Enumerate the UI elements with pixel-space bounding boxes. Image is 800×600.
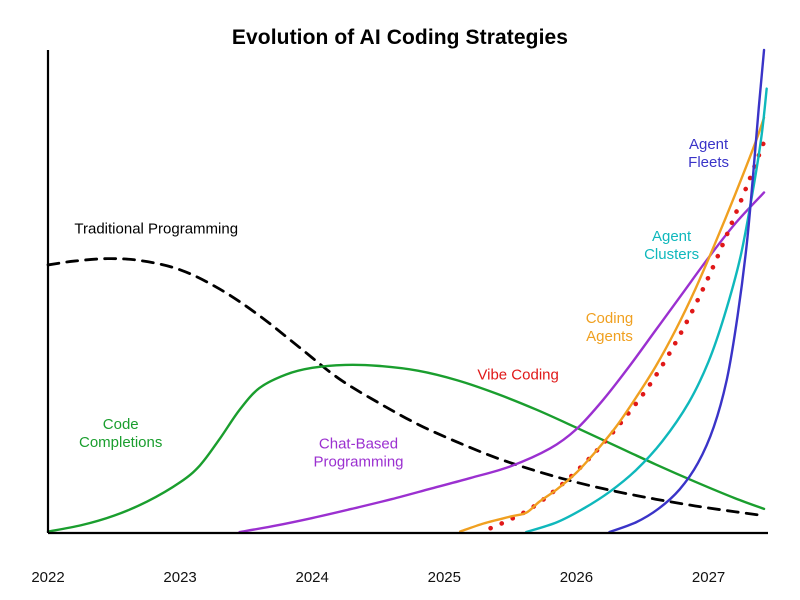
x-tick-label: 2027 (692, 569, 725, 586)
series-label-code-completions: CodeCompletions (79, 416, 162, 451)
series-label-agent-clusters: AgentClusters (644, 228, 699, 263)
series-line-agent-clusters (526, 89, 766, 532)
series-group (48, 50, 767, 532)
x-tick-label: 2022 (31, 569, 64, 586)
axes-group (48, 50, 768, 533)
x-tick-label: 2024 (296, 569, 329, 586)
x-tick-labels: 202220232024202520262027 (31, 569, 725, 586)
series-line-agent-fleets (609, 50, 764, 532)
x-tick-label: 2026 (560, 569, 593, 586)
series-label-traditional-programming: Traditional Programming (74, 221, 238, 238)
series-line-traditional-programming (48, 259, 764, 516)
series-label-agent-fleets: AgentFleets (688, 136, 729, 171)
x-tick-label: 2025 (428, 569, 461, 586)
line-chart-svg: 202220232024202520262027 Traditional Pro… (0, 0, 800, 600)
series-label-vibe-coding: Vibe Coding (477, 366, 558, 383)
series-annotations: Traditional ProgrammingCodeCompletionsCh… (74, 136, 729, 471)
chart-page: Evolution of AI Coding Strategies 202220… (0, 0, 800, 600)
series-label-chat-based-programming: Chat-BasedProgramming (313, 436, 403, 471)
x-tick-label: 2023 (163, 569, 196, 586)
series-label-coding-agents: CodingAgents (586, 310, 634, 345)
